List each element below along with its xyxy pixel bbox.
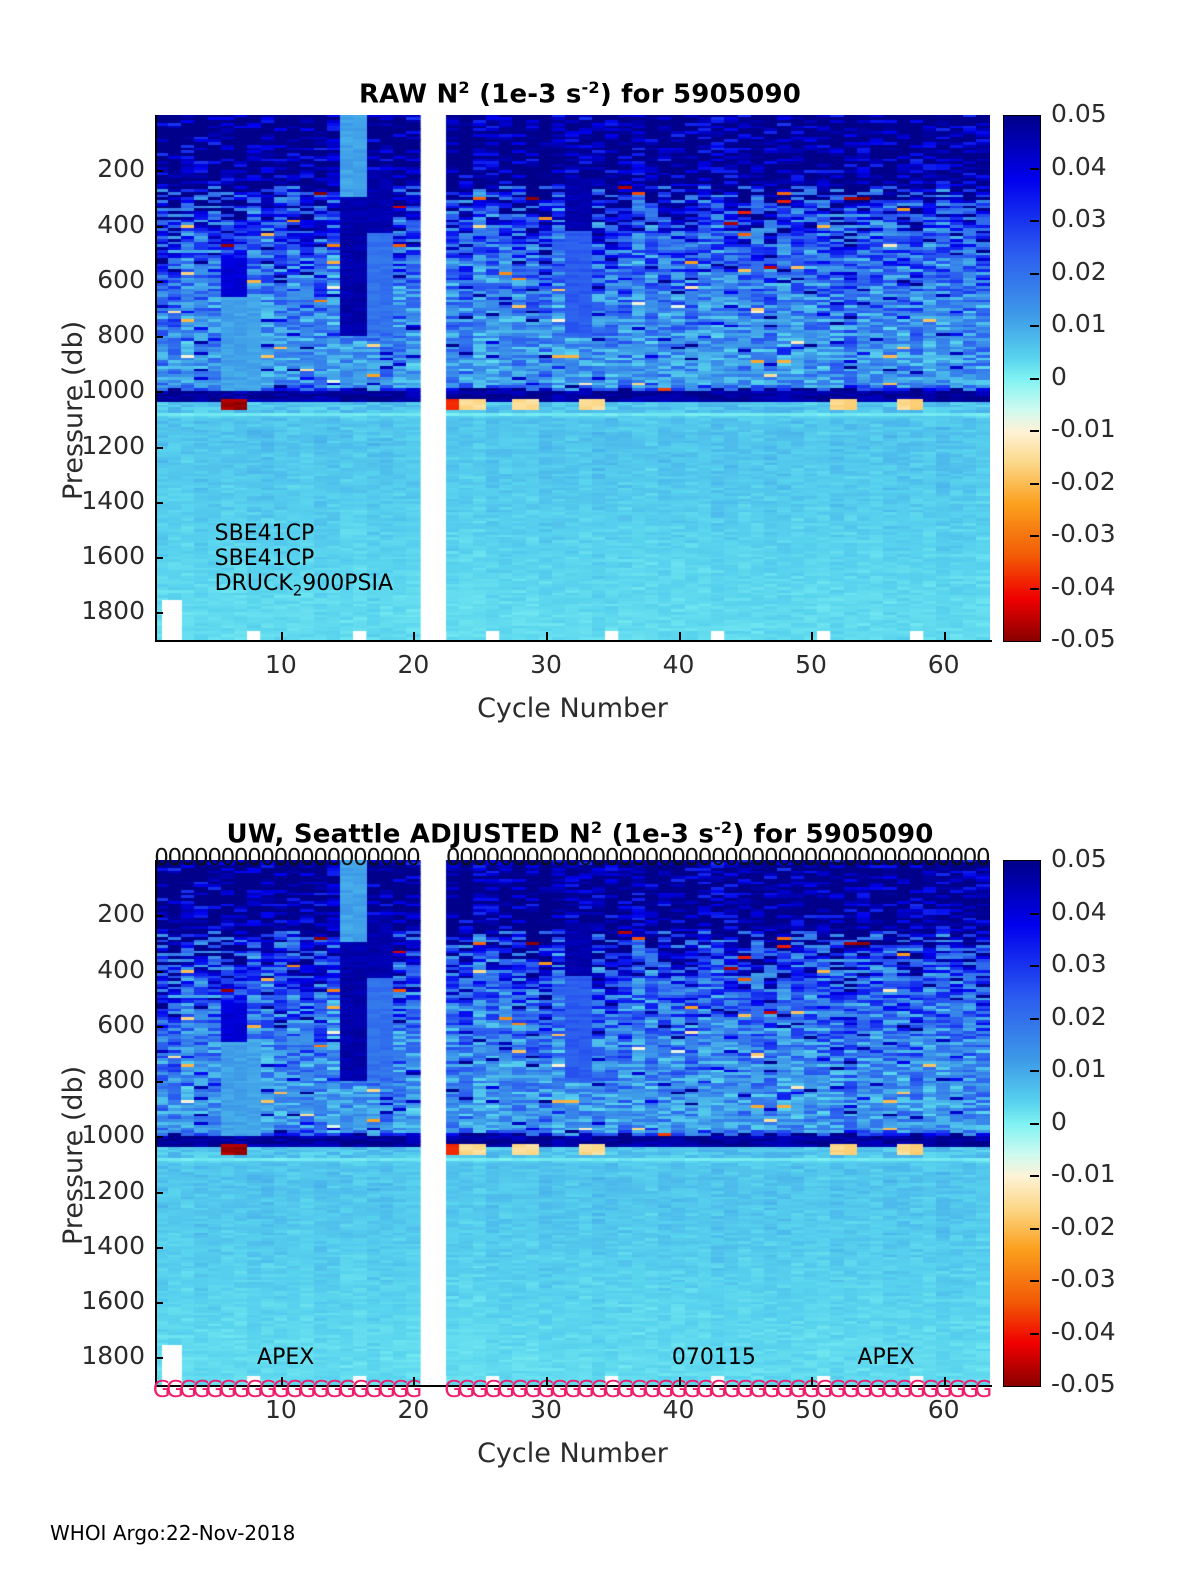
y-tick-mark [155, 557, 163, 559]
annotation-tail: 900PSIA [302, 571, 393, 596]
y-tick-mark [155, 1302, 163, 1304]
y-tick-label-1600: 1600 [7, 541, 145, 570]
x-tick-mark [413, 632, 415, 640]
plot-annotation: APEX [257, 1345, 314, 1370]
x-tick-label-10: 10 [255, 1395, 307, 1424]
y-tick-label-200: 200 [7, 899, 145, 928]
y-tick-label-200: 200 [7, 154, 145, 183]
panel-raw-title-sup1: 2 [458, 78, 469, 97]
panel-adjusted-title-sup1: 2 [591, 818, 602, 837]
colorbar-tick-mark [1030, 1333, 1039, 1335]
x-tick-label-40: 40 [653, 1395, 705, 1424]
colorbar-tick-mark [1030, 1123, 1039, 1125]
y-tick-mark [155, 170, 163, 172]
colorbar-tick-label: 0.05 [1051, 844, 1107, 873]
y-tick-label-1000: 1000 [7, 375, 145, 404]
y-tick-label-600: 600 [7, 1010, 145, 1039]
colorbar-tick-mark [1030, 1280, 1039, 1282]
y-tick-mark [155, 336, 163, 338]
colorbar-tick-mark [1030, 1228, 1039, 1230]
y-tick-label-1400: 1400 [7, 486, 145, 515]
y-tick-mark [155, 226, 163, 228]
colorbar-tick-mark [1030, 168, 1039, 170]
colorbar-tick-label: 0.01 [1051, 309, 1107, 338]
x-tick-mark [679, 1377, 681, 1385]
colorbar-tick-label: -0.04 [1051, 572, 1116, 601]
y-tick-label-800: 800 [7, 320, 145, 349]
panel-adjusted-title-sup2: -2 [714, 818, 732, 837]
colorbar-tick-label: -0.05 [1051, 1369, 1116, 1398]
panel-raw-title-sup2: -2 [582, 78, 600, 97]
x-tick-label-60: 60 [918, 1395, 970, 1424]
plot-annotation: SBE41CP [215, 546, 315, 571]
y-tick-label-1000: 1000 [7, 1120, 145, 1149]
y-tick-mark [155, 1081, 163, 1083]
y-tick-label-400: 400 [7, 210, 145, 239]
y-tick-mark [155, 1026, 163, 1028]
plot-annotation: SBE41CP [215, 521, 315, 546]
x-tick-label-10: 10 [255, 650, 307, 679]
cycle-quality-flag-top: 0 [976, 845, 991, 871]
y-tick-mark [155, 1136, 163, 1138]
annotation-text: DRUCK [215, 571, 293, 596]
plot-annotation: DRUCK2900PSIA [215, 571, 393, 599]
colorbar-tick-mark [1030, 588, 1039, 590]
x-tick-label-50: 50 [785, 650, 837, 679]
y-tick-mark [155, 502, 163, 504]
x-axis-label-adjusted: Cycle Number [155, 1438, 990, 1469]
x-tick-mark [546, 1377, 548, 1385]
colorbar-tick-label: 0 [1051, 1107, 1067, 1136]
colorbar-tick-mark [1030, 965, 1039, 967]
colorbar-tick-label: -0.02 [1051, 1212, 1116, 1241]
x-tick-label-60: 60 [918, 650, 970, 679]
y-tick-label-1800: 1800 [7, 1341, 145, 1370]
y-tick-mark [155, 1357, 163, 1359]
annotation-subscript: 2 [293, 581, 303, 599]
colorbar-tick-mark [1030, 378, 1039, 380]
x-tick-mark [811, 1377, 813, 1385]
y-tick-label-1400: 1400 [7, 1231, 145, 1260]
colorbar-tick-label: 0.02 [1051, 1002, 1107, 1031]
x-tick-label-20: 20 [387, 1395, 439, 1424]
colorbar-tick-label: 0.04 [1051, 152, 1107, 181]
y-tick-label-1200: 1200 [7, 431, 145, 460]
y-tick-label-600: 600 [7, 265, 145, 294]
cycle-quality-flag-top: 0 [406, 845, 421, 871]
x-tick-mark [944, 1377, 946, 1385]
x-tick-mark [546, 632, 548, 640]
y-tick-mark [155, 915, 163, 917]
colorbar-tick-label: 0.03 [1051, 204, 1107, 233]
y-tick-mark [155, 1192, 163, 1194]
x-tick-mark [811, 632, 813, 640]
y-tick-mark [155, 447, 163, 449]
panel-raw-title: RAW N2 (1e-3 s-2) for 5905090 [150, 78, 1010, 110]
y-tick-mark [155, 1247, 163, 1249]
colorbar-tick-mark [1030, 1070, 1039, 1072]
colorbar-tick-mark [1030, 1175, 1039, 1177]
colorbar-tick-mark [1030, 220, 1039, 222]
x-tick-mark [413, 1377, 415, 1385]
y-tick-mark [155, 391, 163, 393]
y-tick-mark [155, 612, 163, 614]
top-cycle-markers: 0000000000000000000000000000000000000000… [155, 845, 990, 869]
colorbar-tick-label: 0 [1051, 362, 1067, 391]
colorbar-tick-mark [1030, 273, 1039, 275]
colorbar-tick-label: 0.04 [1051, 897, 1107, 926]
colorbar-tick-label: -0.03 [1051, 519, 1116, 548]
footer-credit: WHOI Argo:22-Nov-2018 [50, 1521, 295, 1545]
colorbar-tick-label: -0.04 [1051, 1317, 1116, 1346]
x-tick-mark [944, 632, 946, 640]
heatmap-adjusted[interactable] [155, 860, 990, 1385]
x-axis-label-raw: Cycle Number [155, 693, 990, 724]
x-tick-label-20: 20 [387, 650, 439, 679]
y-tick-label-1200: 1200 [7, 1176, 145, 1205]
x-tick-label-50: 50 [785, 1395, 837, 1424]
cycle-grade-flag-bottom: G [974, 1377, 992, 1403]
y-tick-mark [155, 971, 163, 973]
plot-annotation: APEX [857, 1345, 914, 1370]
y-tick-label-1800: 1800 [7, 596, 145, 625]
colorbar-tick-label: -0.01 [1051, 414, 1116, 443]
colorbar-tick-mark [1030, 325, 1039, 327]
colorbar-tick-mark [1030, 1018, 1039, 1020]
x-tick-mark [281, 1377, 283, 1385]
y-tick-label-400: 400 [7, 955, 145, 984]
y-tick-label-1600: 1600 [7, 1286, 145, 1315]
colorbar-tick-label: -0.02 [1051, 467, 1116, 496]
colorbar-tick-label: 0.02 [1051, 257, 1107, 286]
x-tick-mark [281, 632, 283, 640]
x-tick-label-30: 30 [520, 1395, 572, 1424]
y-tick-mark [155, 281, 163, 283]
colorbar-tick-label: -0.05 [1051, 624, 1116, 653]
colorbar-tick-mark [1030, 483, 1039, 485]
colorbar-tick-label: 0.03 [1051, 949, 1107, 978]
panel-raw-title-pre: RAW N [359, 80, 458, 110]
x-tick-label-40: 40 [653, 650, 705, 679]
x-tick-label-30: 30 [520, 650, 572, 679]
y-tick-label-800: 800 [7, 1065, 145, 1094]
colorbar-tick-mark [1030, 430, 1039, 432]
panel-raw-title-mid: (1e-3 s [470, 80, 582, 110]
plot-annotation: 070115 [672, 1345, 756, 1370]
colorbar-tick-label: 0.01 [1051, 1054, 1107, 1083]
colorbar-tick-mark [1030, 913, 1039, 915]
colorbar-tick-label: -0.03 [1051, 1264, 1116, 1293]
colorbar-tick-label: -0.01 [1051, 1159, 1116, 1188]
colorbar-tick-mark [1030, 535, 1039, 537]
x-tick-mark [679, 632, 681, 640]
panel-raw-title-post: ) for 5905090 [600, 80, 801, 110]
colorbar-tick-label: 0.05 [1051, 99, 1107, 128]
